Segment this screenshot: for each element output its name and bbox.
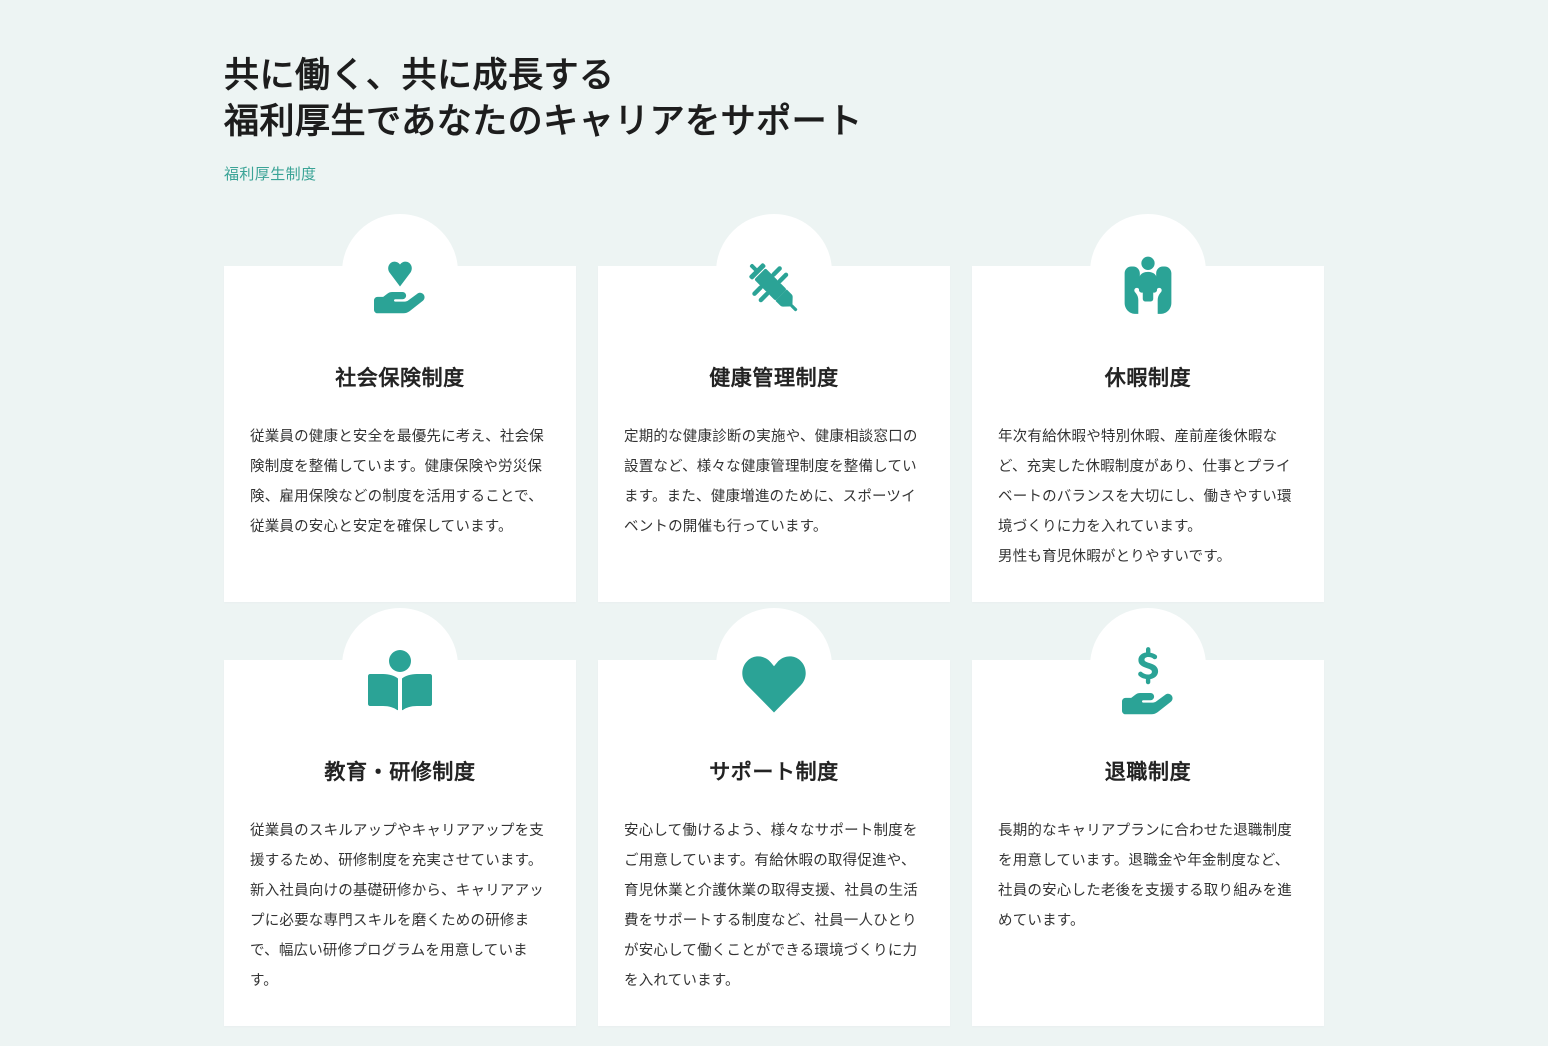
benefit-card-education-training[interactable]: 教育・研修制度 従業員のスキルアップやキャリアアップを支援するため、研修制度を充… <box>224 660 576 1026</box>
benefits-card-grid: 社会保険制度 従業員の健康と安全を最優先に考え、社会保険制度を整備しています。健… <box>224 266 1326 1026</box>
card-body: 定期的な健康診断の実施や、健康相談窓口の設置など、様々な健康管理制度を整備してい… <box>624 422 924 542</box>
card-title: 健康管理制度 <box>624 362 924 392</box>
hands-holding-child-icon <box>1110 250 1186 326</box>
card-body: 年次有給休暇や特別休暇、産前産後休暇など、充実した休暇制度があり、仕事とプライベ… <box>998 422 1298 572</box>
benefit-card-leave-system[interactable]: 休暇制度 年次有給休暇や特別休暇、産前産後休暇など、充実した休暇制度があり、仕事… <box>972 266 1324 602</box>
card-title: 退職制度 <box>998 756 1298 786</box>
open-book-reader-icon <box>362 644 438 720</box>
card-body: 長期的なキャリアプランに合わせた退職制度を用意しています。退職金や年金制度など、… <box>998 816 1298 936</box>
card-body: 従業員のスキルアップやキャリアアップを支援するため、研修制度を充実させています。… <box>250 816 550 996</box>
page-header: 共に働く、共に成長する 福利厚生であなたのキャリアをサポート 福利厚生制度 <box>224 53 1324 184</box>
benefit-card-retirement-system[interactable]: 退職制度 長期的なキャリアプランに合わせた退職制度を用意しています。退職金や年金… <box>972 660 1324 1026</box>
card-title: サポート制度 <box>624 756 924 786</box>
syringe-icon <box>736 250 812 326</box>
card-body: 従業員の健康と安全を最優先に考え、社会保険制度を整備しています。健康保険や労災保… <box>250 422 550 542</box>
benefit-card-social-insurance[interactable]: 社会保険制度 従業員の健康と安全を最優先に考え、社会保険制度を整備しています。健… <box>224 266 576 602</box>
page-title: 共に働く、共に成長する 福利厚生であなたのキャリアをサポート <box>224 53 1324 145</box>
benefit-card-support-system[interactable]: サポート制度 安心して働けるよう、様々なサポート制度をご用意しています。有給休暇… <box>598 660 950 1026</box>
benefits-page: 共に働く、共に成長する 福利厚生であなたのキャリアをサポート 福利厚生制度 社会… <box>0 0 1548 1046</box>
hand-holding-heart-icon <box>362 250 438 326</box>
page-subtitle: 福利厚生制度 <box>224 163 1324 184</box>
heart-icon <box>736 644 812 720</box>
card-title: 休暇制度 <box>998 362 1298 392</box>
card-body: 安心して働けるよう、様々なサポート制度をご用意しています。有給休暇の取得促進や、… <box>624 816 924 996</box>
hand-holding-dollar-icon <box>1110 644 1186 720</box>
card-title: 教育・研修制度 <box>250 756 550 786</box>
benefit-card-health-management[interactable]: 健康管理制度 定期的な健康診断の実施や、健康相談窓口の設置など、様々な健康管理制… <box>598 266 950 602</box>
card-title: 社会保険制度 <box>250 362 550 392</box>
